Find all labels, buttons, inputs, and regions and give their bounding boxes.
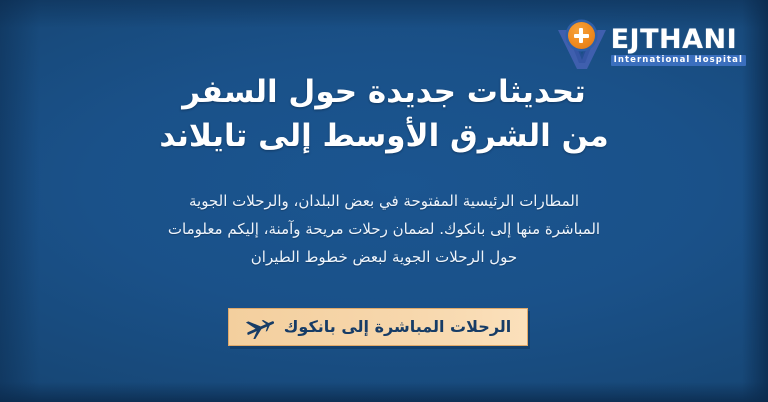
body-copy: المطارات الرئيسية المفتوحة في بعض البلدا… — [0, 188, 768, 271]
direct-flights-cta-button[interactable]: الرحلات المباشرة إلى بانكوك — [228, 308, 528, 346]
airplane-icon — [245, 315, 275, 339]
cta-label: الرحلات المباشرة إلى بانكوك — [284, 319, 512, 335]
body-line-3: حول الرحلات الجوية لبعض خطوط الطيران — [120, 244, 648, 272]
hospital-logo[interactable]: EJTHANI International Hospital — [556, 22, 746, 70]
body-line-2: المباشرة منها إلى بانكوك. لضمان رحلات مر… — [120, 216, 648, 244]
logo-tagline: International Hospital — [611, 55, 746, 67]
logo-text: EJTHANI International Hospital — [611, 26, 746, 67]
logo-wordmark: EJTHANI — [611, 26, 746, 53]
background-vignette-bottom — [0, 382, 768, 402]
promo-banner: EJTHANI International Hospital تحديثات ج… — [0, 0, 768, 402]
medical-cross-icon — [574, 28, 589, 43]
headline-line-2: من الشرق الأوسط إلى تايلاند — [70, 114, 698, 158]
logo-mark — [556, 22, 608, 70]
body-line-1: المطارات الرئيسية المفتوحة في بعض البلدا… — [120, 188, 648, 216]
headline-line-1: تحديثات جديدة حول السفر — [70, 70, 698, 114]
logo-badge — [568, 22, 595, 49]
headline: تحديثات جديدة حول السفر من الشرق الأوسط … — [0, 70, 768, 158]
